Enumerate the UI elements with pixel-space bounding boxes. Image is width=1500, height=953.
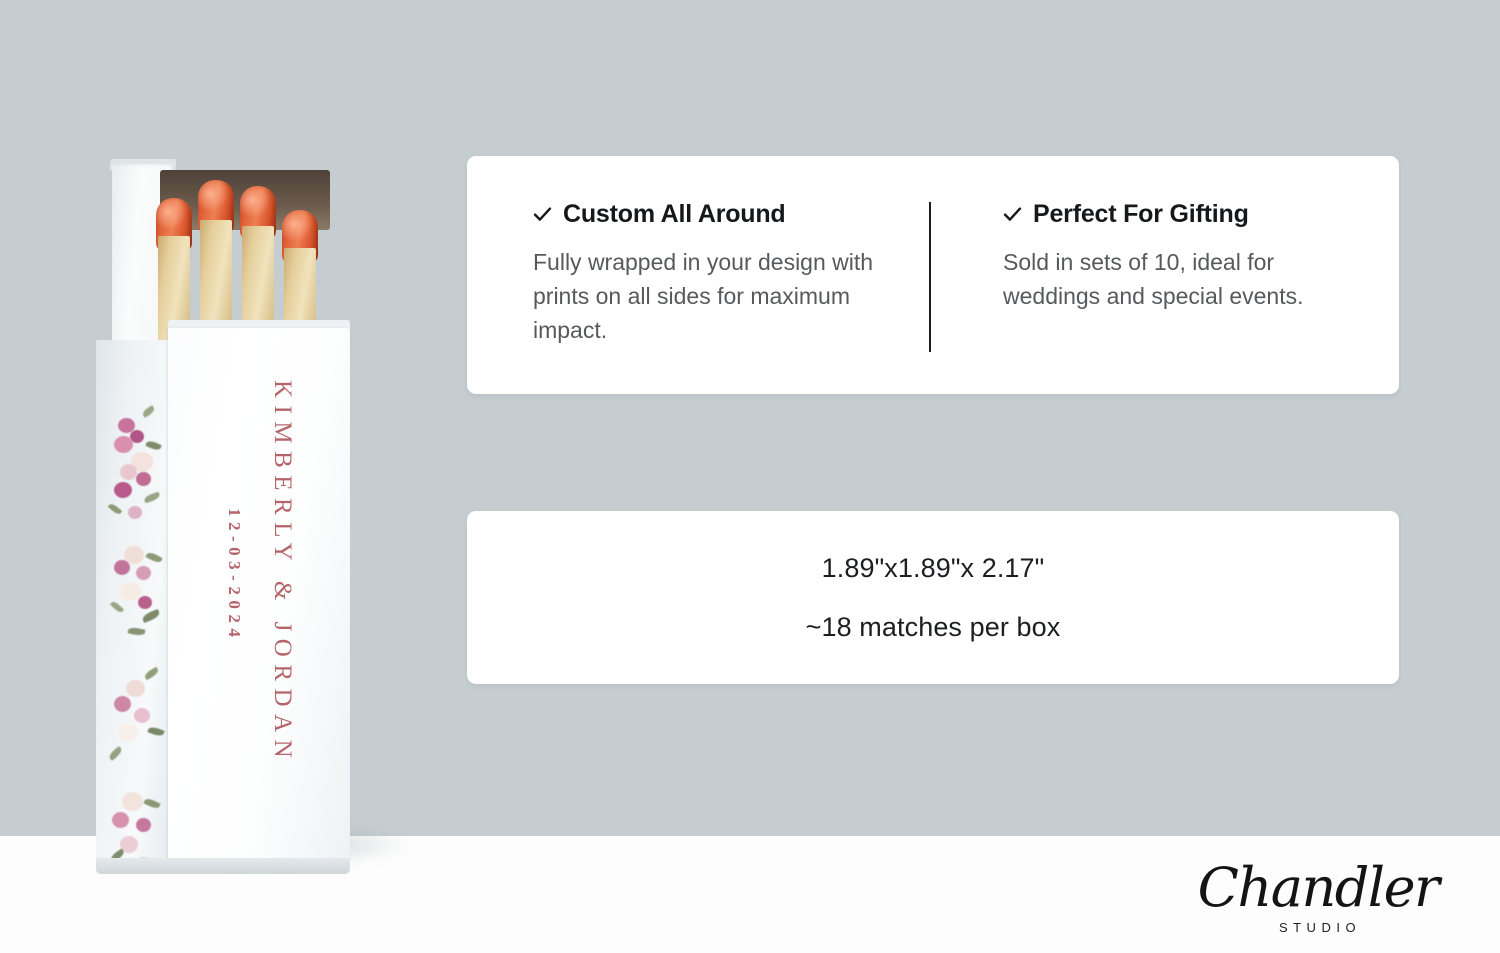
matchbox-side-face (96, 340, 168, 874)
check-icon (1003, 205, 1022, 224)
feature-description: Sold in sets of 10, ideal for weddings a… (1003, 246, 1359, 314)
product-date-text: 12-03-2024 (224, 508, 244, 642)
check-icon (533, 205, 552, 224)
feature-title-row: Custom All Around (533, 200, 889, 229)
matchbox-printed-text: KIMBERLY & JORDAN 12-03-2024 (168, 328, 350, 862)
floral-artwork-icon (96, 536, 168, 686)
spec-dimensions: 1.89"x1.89"x 2.17" (822, 553, 1045, 584)
feature-title: Custom All Around (563, 200, 786, 229)
brand-name: Chandler (1188, 861, 1448, 915)
features-card: Custom All Around Fully wrapped in your … (467, 156, 1399, 394)
feature-title: Perfect For Gifting (1033, 200, 1249, 229)
spec-capacity: ~18 matches per box (806, 612, 1061, 643)
infographic-stage: KIMBERLY & JORDAN 12-03-2024 Custom All … (0, 0, 1500, 953)
feature-title-row: Perfect For Gifting (1003, 200, 1359, 229)
product-names-text: KIMBERLY & JORDAN (268, 380, 296, 765)
floral-artwork-icon (96, 402, 168, 552)
feature-item-custom-all-around: Custom All Around Fully wrapped in your … (467, 156, 929, 394)
matchbox-body: KIMBERLY & JORDAN 12-03-2024 (96, 328, 350, 874)
brand-logo: Chandler STUDIO (1188, 861, 1448, 935)
matchbox-front-face: KIMBERLY & JORDAN 12-03-2024 (168, 328, 350, 862)
matchbox-bottom-edge (96, 858, 350, 874)
feature-item-perfect-for-gifting: Perfect For Gifting Sold in sets of 10, … (929, 156, 1399, 394)
feature-description: Fully wrapped in your design with prints… (533, 246, 889, 347)
product-photo-matchbox: KIMBERLY & JORDAN 12-03-2024 (86, 150, 416, 890)
brand-tagline: STUDIO (1188, 920, 1448, 935)
specifications-card: 1.89"x1.89"x 2.17" ~18 matches per box (467, 511, 1399, 684)
